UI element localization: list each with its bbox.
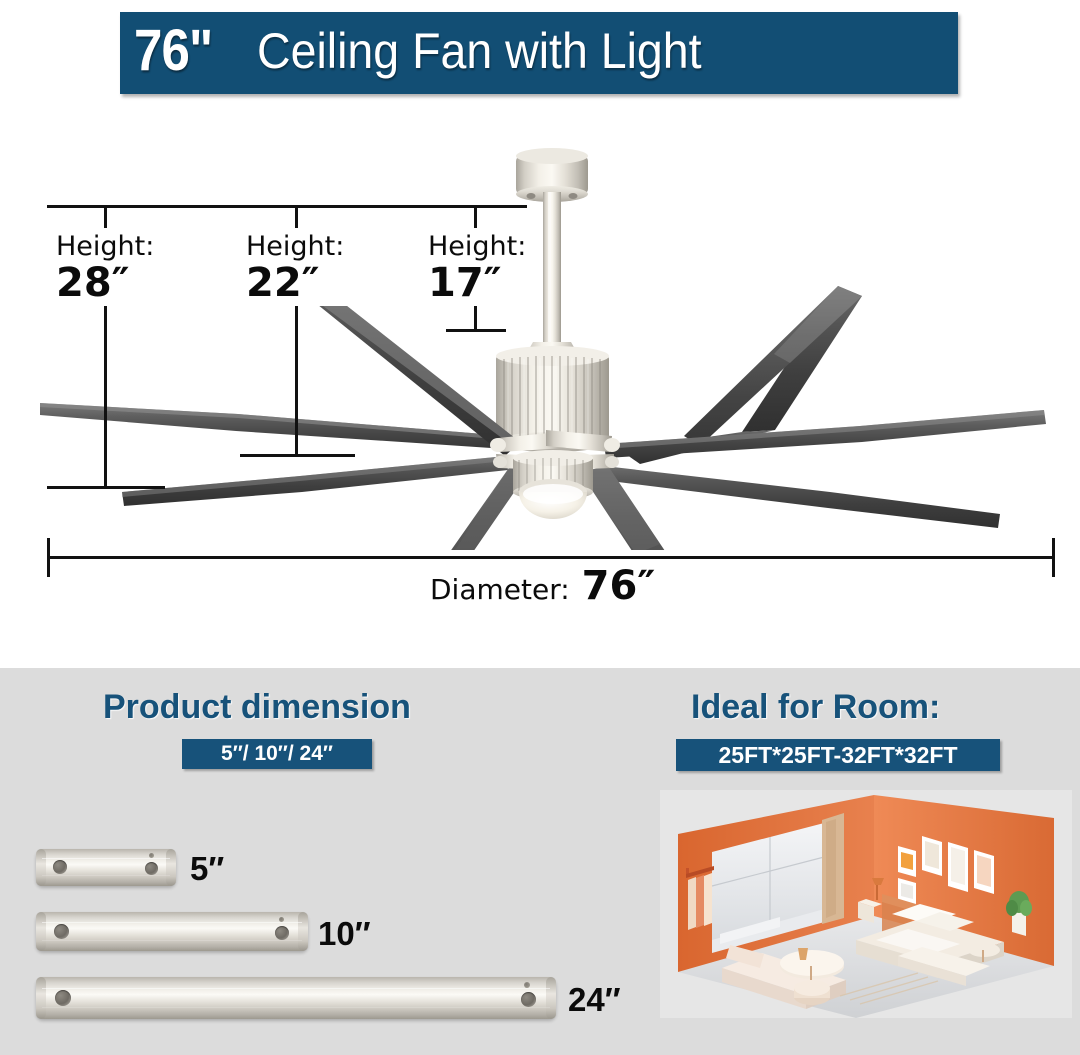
fan-led-light	[519, 479, 587, 519]
rod-highlight	[42, 922, 302, 923]
downrod-10in	[36, 912, 308, 951]
downrod-5in	[36, 849, 176, 886]
diameter-label: Diameter: 76″	[430, 566, 655, 607]
ideal-for-room-badge: 25FT*25FT-32FT*32FT	[676, 739, 1000, 771]
diameter-line	[47, 556, 1055, 559]
product-infographic: 76" Ceiling Fan with Light	[0, 0, 1080, 1055]
rod-shadow-line	[42, 875, 170, 876]
height-caption: Height:	[246, 232, 344, 262]
rod-pin	[524, 982, 530, 988]
diameter-tick-left	[47, 538, 50, 577]
rod-shadow-line	[42, 940, 302, 941]
rod-highlight	[42, 858, 170, 859]
rod-pin	[279, 917, 284, 922]
height-value: 17″	[428, 262, 526, 304]
diameter-value: 76″	[582, 566, 656, 606]
rod-cap-right	[298, 912, 308, 951]
fan-downrod	[543, 192, 561, 342]
ideal-for-room-heading: Ideal for Room:	[691, 688, 940, 726]
height-tick-28	[47, 486, 165, 489]
ceiling-reference-line	[47, 205, 527, 208]
rod-cap-right	[546, 977, 556, 1019]
height-value: 28″	[56, 262, 154, 304]
product-dimension-badge: 5″/ 10″/ 24″	[182, 739, 372, 769]
diameter-caption: Diameter:	[430, 573, 570, 607]
rod-hole	[521, 992, 536, 1007]
height-label-28: Height: 28″	[56, 232, 154, 304]
height-value: 22″	[246, 262, 344, 304]
rod-hole	[55, 990, 71, 1006]
rod-cap-left	[36, 849, 46, 886]
height-tick-22	[240, 454, 355, 457]
diameter-tick-right	[1052, 538, 1055, 577]
rod-hole	[275, 926, 289, 940]
rod-cap-right	[166, 849, 176, 886]
dimension-diagram-section: 76" Ceiling Fan with Light	[0, 0, 1080, 668]
banner-size-text: 76"	[134, 22, 212, 80]
rod-pin	[149, 853, 154, 858]
room-ottoman	[794, 980, 830, 1005]
downrod-label-10in: 10″	[318, 916, 371, 952]
banner-title-text: Ceiling Fan with Light	[257, 25, 702, 77]
downrod-label-5in: 5″	[190, 851, 224, 887]
height-caption: Height:	[428, 232, 526, 262]
product-dimension-heading: Product dimension	[103, 688, 411, 726]
rod-hole	[53, 860, 67, 874]
downrod-label-24in: 24″	[568, 982, 621, 1018]
rod-highlight	[42, 988, 550, 989]
room-clothes	[688, 873, 712, 930]
room-scene-illustration	[660, 790, 1072, 1018]
height-label-17: Height: 17″	[428, 232, 526, 304]
downrod-24in	[36, 977, 556, 1019]
rod-shadow-line	[42, 1007, 550, 1008]
rod-hole	[54, 924, 69, 939]
height-label-22: Height: 22″	[246, 232, 344, 304]
height-tick-17	[446, 329, 506, 332]
rod-cap-left	[36, 912, 46, 951]
rod-cap-left	[36, 977, 46, 1019]
rod-hole	[145, 862, 158, 875]
header-banner: 76" Ceiling Fan with Light	[120, 12, 958, 94]
height-caption: Height:	[56, 232, 154, 262]
